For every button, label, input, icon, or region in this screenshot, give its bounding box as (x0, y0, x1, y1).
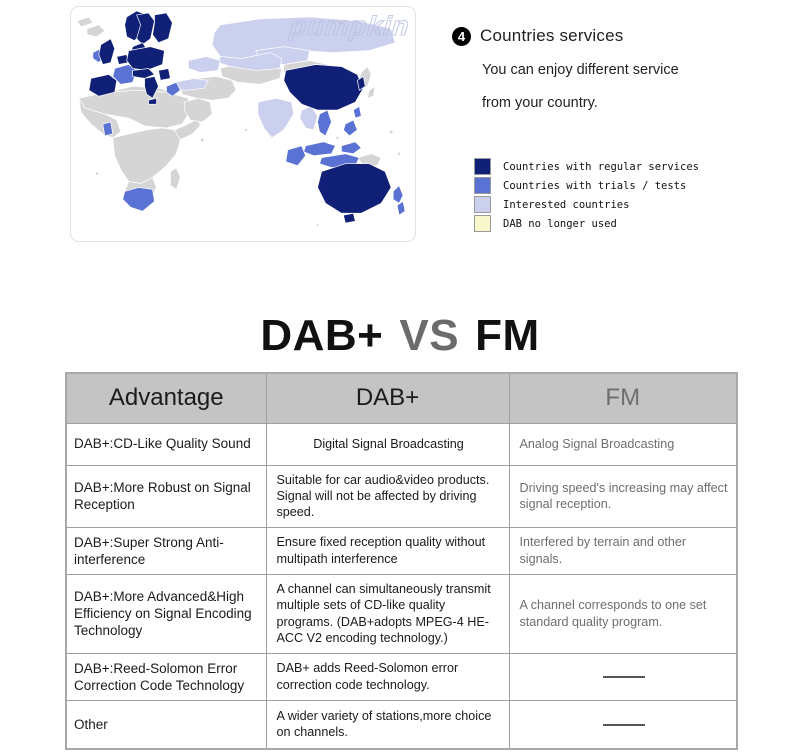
section-number-badge: 4 (452, 27, 471, 46)
table-row: Other A wider variety of stations,more c… (66, 701, 737, 749)
legend-swatch-dab-no-longer-used (474, 215, 491, 232)
legend-item-dab-no-longer-used: DAB no longer used (474, 214, 699, 233)
cell-advantage: DAB+:More Robust on Signal Reception (66, 465, 266, 527)
empty-value-dash-icon (603, 676, 645, 678)
cell-fm: Interfered by terrain and other signals. (509, 527, 737, 575)
cell-dab: Digital Signal Broadcasting (266, 423, 509, 465)
cell-fm: A channel corresponds to one set standar… (509, 575, 737, 653)
section-heading: Countries services (480, 26, 623, 46)
table-header-row: Advantage DAB+ FM (66, 373, 737, 423)
cell-advantage: DAB+:More Advanced&High Efficiency on Si… (66, 575, 266, 653)
cell-dab: Ensure fixed reception quality without m… (266, 527, 509, 575)
legend-label-trials-tests: Countries with trials / tests (503, 180, 686, 192)
world-map: pumpkin (70, 6, 416, 242)
header-advantage: Advantage (66, 373, 266, 423)
cell-advantage: DAB+:Reed-Solomon Error Correction Code … (66, 653, 266, 701)
cell-dab: DAB+ adds Reed-Solomon error correction … (266, 653, 509, 701)
cell-advantage: DAB+:Super Strong Anti-interference (66, 527, 266, 575)
cell-fm: Driving speed's increasing may affect si… (509, 465, 737, 527)
table-row: DAB+:Super Strong Anti-interference Ensu… (66, 527, 737, 575)
section-info-column: 4 Countries services You can enjoy diffe… (452, 26, 792, 112)
cell-advantage: Other (66, 701, 266, 749)
cell-advantage: DAB+:CD-Like Quality Sound (66, 423, 266, 465)
legend-label-regular-services: Countries with regular services (503, 161, 699, 173)
cell-fm (509, 653, 737, 701)
dab-vs-fm-comparison-table: Advantage DAB+ FM DAB+:CD-Like Quality S… (65, 372, 738, 750)
legend-item-trials-tests: Countries with trials / tests (474, 176, 699, 195)
table-row: DAB+:More Robust on Signal Reception Sui… (66, 465, 737, 527)
cell-dab: A channel can simultaneously transmit mu… (266, 575, 509, 653)
section-body-line-2: from your country. (482, 96, 792, 112)
cell-dab: Suitable for car audio&video products. S… (266, 465, 509, 527)
header-fm: FM (509, 373, 737, 423)
title-dab-plus: DAB+ (260, 311, 383, 360)
empty-value-dash-icon (603, 724, 645, 726)
legend-swatch-regular-services (474, 158, 491, 175)
section-body-line-1: You can enjoy different service (482, 63, 792, 79)
table-row: DAB+:Reed-Solomon Error Correction Code … (66, 653, 737, 701)
world-map-svg (71, 7, 415, 241)
title-vs: VS (399, 311, 459, 360)
page-title: DAB+VSFM (0, 311, 800, 361)
legend-item-regular-services: Countries with regular services (474, 157, 699, 176)
cell-fm: Analog Signal Broadcasting (509, 423, 737, 465)
legend-label-interested-countries: Interested countries (503, 199, 629, 211)
legend-swatch-interested-countries (474, 196, 491, 213)
header-dab-plus: DAB+ (266, 373, 509, 423)
legend-label-dab-no-longer-used: DAB no longer used (503, 218, 617, 230)
legend-swatch-trials-tests (474, 177, 491, 194)
cell-dab: A wider variety of stations,more choice … (266, 701, 509, 749)
legend-item-interested-countries: Interested countries (474, 195, 699, 214)
table-row: DAB+:CD-Like Quality Sound Digital Signa… (66, 423, 737, 465)
countries-services-section: pumpkin 4 Countries services You can enj… (0, 0, 800, 258)
title-fm: FM (475, 311, 540, 360)
map-legend: Countries with regular services Countrie… (474, 157, 699, 233)
cell-fm (509, 701, 737, 749)
table-row: DAB+:More Advanced&High Efficiency on Si… (66, 575, 737, 653)
section-headline-row: 4 Countries services (452, 26, 792, 46)
